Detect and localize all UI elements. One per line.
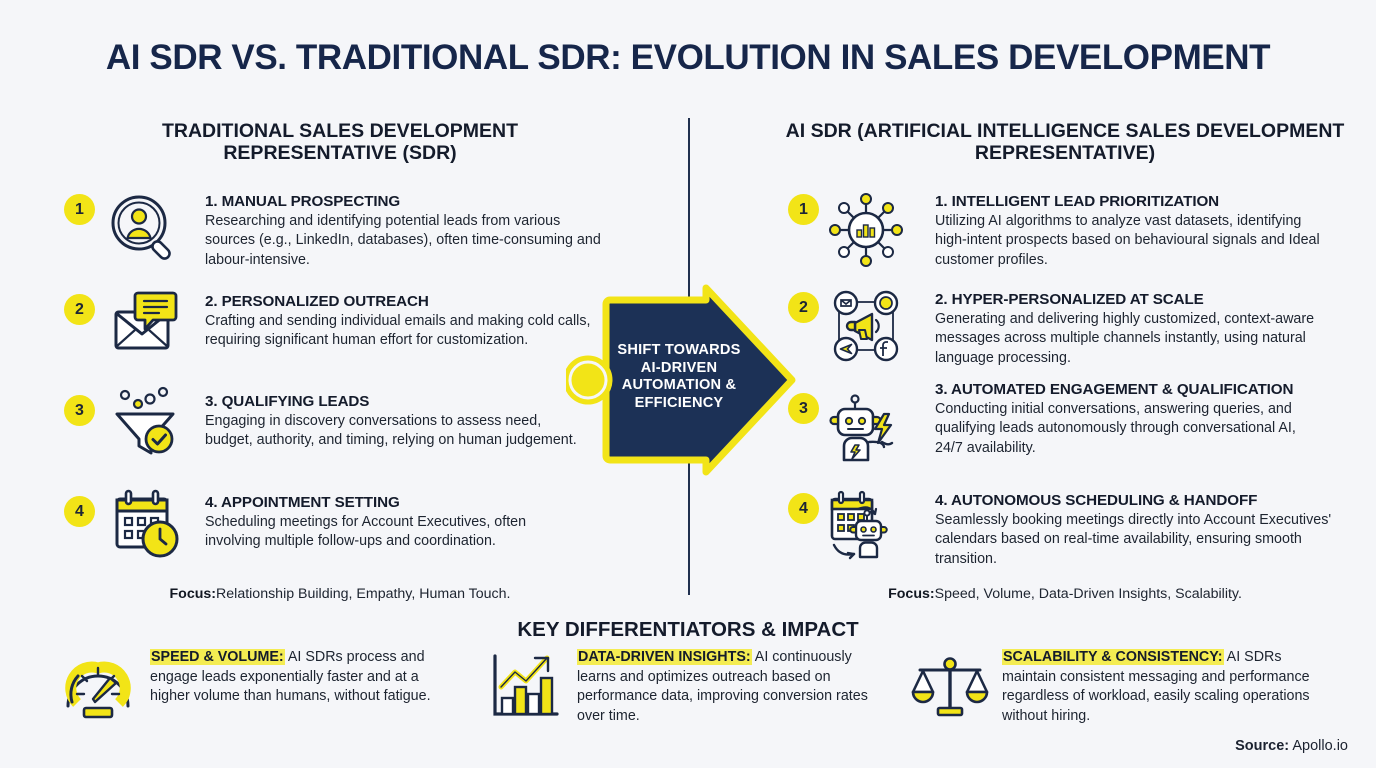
- key-differentiators-title: KEY DIFFERENTIATORS & IMPACT: [0, 618, 1376, 642]
- network-chart-icon: [828, 192, 904, 268]
- badge-right-1: 1: [788, 194, 819, 225]
- right-focus-line: Focus:Speed, Volume, Data-Driven Insight…: [780, 586, 1350, 602]
- list-item-text-right-1: 1. INTELLIGENT LEAD PRIORITIZATION Utili…: [935, 193, 1335, 270]
- list-item-title: 2. HYPER-PERSONALIZED AT SCALE: [935, 291, 1335, 309]
- badge-left-4: 4: [64, 496, 95, 527]
- source-attribution: Source: Apollo.io: [1235, 738, 1348, 754]
- list-item-body: Researching and identifying potential le…: [205, 212, 605, 270]
- magnifier-person-icon: [108, 192, 184, 268]
- list-item-body: Generating and delivering highly customi…: [935, 310, 1335, 368]
- list-item-title: 4. APPOINTMENT SETTING: [205, 494, 575, 512]
- list-item-text-left-1: 1. MANUAL PROSPECTING Researching and id…: [205, 193, 605, 270]
- badge-right-3: 3: [788, 393, 819, 424]
- impact-card-highlight: SPEED & VOLUME:: [150, 649, 285, 665]
- balance-scale-icon: [910, 650, 990, 724]
- list-item-body: Engaging in discovery conversations to a…: [205, 412, 585, 451]
- list-item-text-left-3: 3. QUALIFYING LEADS Engaging in discover…: [205, 393, 585, 451]
- badge-right-4: 4: [788, 493, 819, 524]
- left-focus-value: Relationship Building, Empathy, Human To…: [216, 586, 510, 602]
- list-item-title: 4. AUTONOMOUS SCHEDULING & HANDOFF: [935, 492, 1335, 510]
- impact-card-speed-volume: SPEED & VOLUME: AI SDRs process and enga…: [58, 648, 458, 732]
- growth-bar-chart-icon: [485, 650, 565, 724]
- right-column-header: AI SDR (ARTIFICIAL INTELLIGENCE SALES DE…: [775, 120, 1355, 164]
- calendar-clock-icon: [108, 487, 184, 563]
- list-item-text-right-4: 4. AUTONOMOUS SCHEDULING & HANDOFF Seaml…: [935, 492, 1335, 569]
- impact-card-text: SCALABILITY & CONSISTENCY: AI SDRs maint…: [1002, 648, 1327, 726]
- envelope-message-icon: [108, 286, 184, 362]
- list-item-title: 2. PERSONALIZED OUTREACH: [205, 293, 595, 311]
- source-value: Apollo.io: [1289, 738, 1348, 754]
- impact-card-text: SPEED & VOLUME: AI SDRs process and enga…: [150, 648, 460, 707]
- infographic-canvas: AI SDR VS. TRADITIONAL SDR: EVOLUTION IN…: [0, 0, 1376, 768]
- list-item-text-right-2: 2. HYPER-PERSONALIZED AT SCALE Generatin…: [935, 291, 1335, 368]
- impact-card-highlight: SCALABILITY & CONSISTENCY:: [1002, 649, 1224, 665]
- left-column-header: TRADITIONAL SALES DEVELOPMENT REPRESENTA…: [80, 120, 600, 164]
- list-item-body: Conducting initial conversations, answer…: [935, 400, 1325, 458]
- list-item-text-right-3: 3. AUTOMATED ENGAGEMENT & QUALIFICATION …: [935, 381, 1325, 458]
- badge-left-1: 1: [64, 194, 95, 225]
- badge-left-3: 3: [64, 395, 95, 426]
- list-item-title: 1. MANUAL PROSPECTING: [205, 193, 605, 211]
- page-title: AI SDR VS. TRADITIONAL SDR: EVOLUTION IN…: [0, 38, 1376, 78]
- right-focus-value: Speed, Volume, Data-Driven Insights, Sca…: [935, 586, 1242, 602]
- list-item-title: 3. AUTOMATED ENGAGEMENT & QUALIFICATION: [935, 381, 1325, 399]
- list-item-title: 3. QUALIFYING LEADS: [205, 393, 585, 411]
- calendar-robot-icon: [824, 487, 900, 563]
- badge-left-2: 2: [64, 294, 95, 325]
- list-item-title: 1. INTELLIGENT LEAD PRIORITIZATION: [935, 193, 1335, 211]
- list-item-body: Utilizing AI algorithms to analyze vast …: [935, 212, 1335, 270]
- list-item-body: Seamlessly booking meetings directly int…: [935, 511, 1335, 569]
- megaphone-channels-icon: [828, 288, 904, 364]
- left-focus-line: Focus:Relationship Building, Empathy, Hu…: [60, 586, 620, 602]
- impact-card-highlight: DATA-DRIVEN INSIGHTS:: [577, 649, 752, 665]
- list-item-text-left-2: 2. PERSONALIZED OUTREACH Crafting and se…: [205, 293, 595, 351]
- badge-right-2: 2: [788, 292, 819, 323]
- list-item-text-left-4: 4. APPOINTMENT SETTING Scheduling meetin…: [205, 494, 575, 552]
- list-item-body: Crafting and sending individual emails a…: [205, 312, 595, 351]
- impact-card-text: DATA-DRIVEN INSIGHTS: AI continuously le…: [577, 648, 887, 726]
- source-label: Source:: [1235, 738, 1289, 754]
- impact-card-data-driven-insights: DATA-DRIVEN INSIGHTS: AI continuously le…: [485, 648, 885, 732]
- funnel-check-icon: [108, 382, 184, 458]
- left-focus-label: Focus:: [170, 586, 217, 602]
- impact-card-scalability-consistency: SCALABILITY & CONSISTENCY: AI SDRs maint…: [910, 648, 1320, 732]
- list-item-body: Scheduling meetings for Account Executiv…: [205, 513, 575, 552]
- right-arrow-banner: [566, 282, 801, 478]
- right-focus-label: Focus:: [888, 586, 935, 602]
- robot-bolt-icon: [828, 390, 904, 466]
- speedometer-icon: [58, 650, 138, 724]
